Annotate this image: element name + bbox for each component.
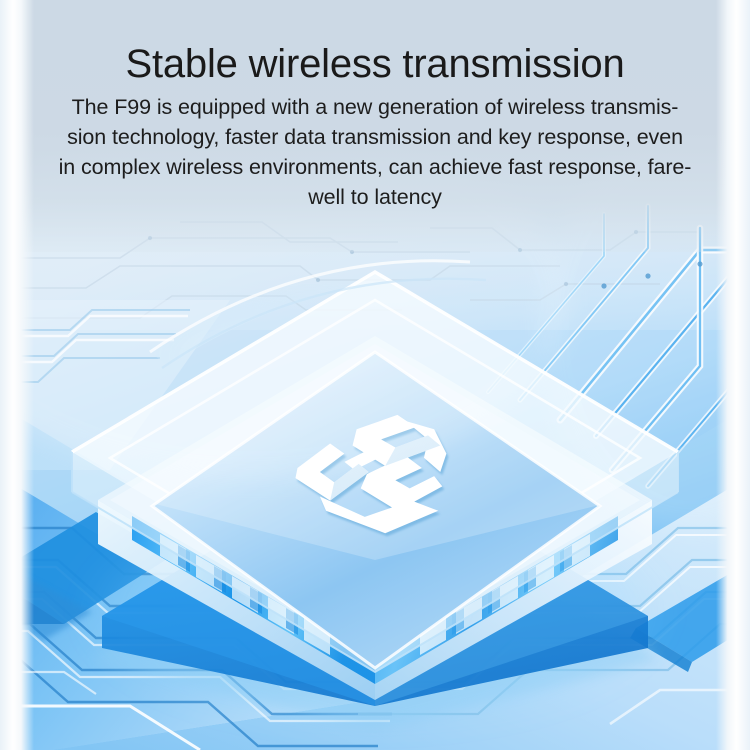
description-line-3: in complex wireless environments, can ac… (14, 152, 736, 182)
marketing-poster: Stable wireless transmission The F99 is … (0, 0, 750, 750)
description-line-4: well to latency (14, 182, 736, 212)
page-description: The F99 is equipped with a new generatio… (14, 92, 736, 212)
copy-block: Stable wireless transmission The F99 is … (0, 0, 750, 212)
description-line-2: sion technology, faster data transmissio… (14, 122, 736, 152)
description-line-1: The F99 is equipped with a new generatio… (14, 92, 736, 122)
page-title: Stable wireless transmission (0, 0, 750, 88)
